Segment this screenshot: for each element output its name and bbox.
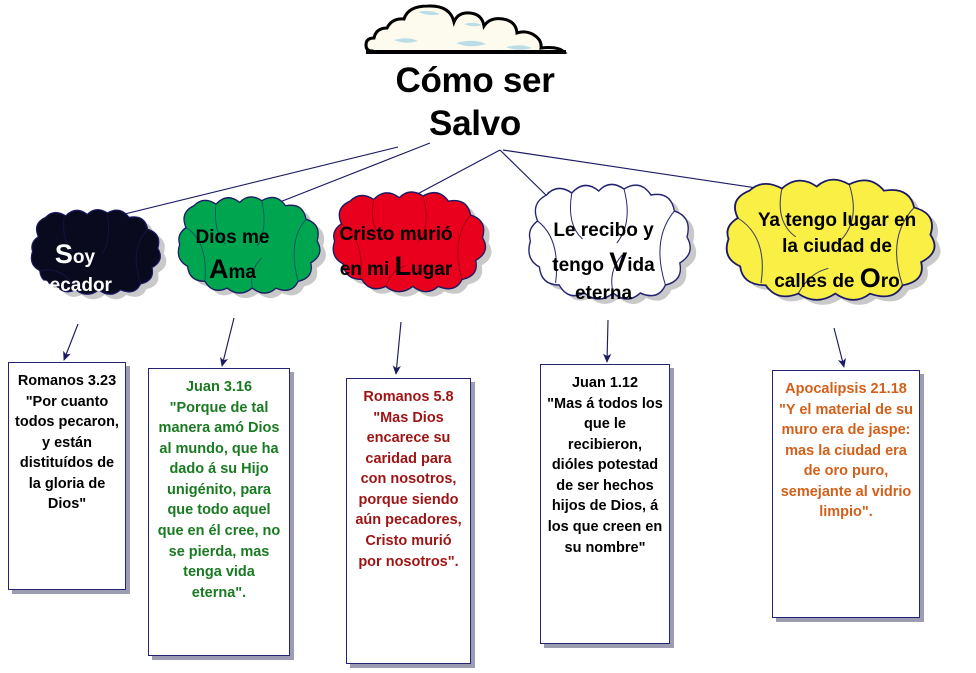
verse-reference: Romanos 3.23 xyxy=(14,371,120,392)
verse-reference: Juan 1.12 xyxy=(546,373,664,394)
verse-box-juan-316[interactable]: Juan 3.16"Porque de tal manera amó Dios … xyxy=(148,368,290,656)
verse-box-juan-112[interactable]: Juan 1.12"Mas á todos los que le recibie… xyxy=(540,364,670,644)
verse-reference: Juan 3.16 xyxy=(154,377,284,398)
verse-reference: Romanos 5.8 xyxy=(352,387,465,408)
verse-box-romanos-58[interactable]: Romanos 5.8"Mas Dios encarece su caridad… xyxy=(346,378,471,664)
verse-boxes: Romanos 3.23"Por cuanto todos pecaron, y… xyxy=(0,0,976,673)
salvation-diagram: Cómo ser Salvo xyxy=(0,0,976,673)
verse-text: "Y el material de su muro era de jaspe: … xyxy=(778,400,914,523)
verse-reference: Apocalipsis 21.18 xyxy=(778,379,914,400)
verse-text: "Porque de tal manera amó Dios al mundo,… xyxy=(154,398,284,604)
verse-box-romanos-323[interactable]: Romanos 3.23"Por cuanto todos pecaron, y… xyxy=(8,362,126,590)
verse-text: "Por cuanto todos pecaron, y están disti… xyxy=(14,392,120,515)
verse-text: "Mas á todos los que le recibieron, diól… xyxy=(546,394,664,559)
verse-text: "Mas Dios encarece su caridad para con n… xyxy=(352,408,465,573)
verse-box-apocalipsis-2118[interactable]: Apocalipsis 21.18"Y el material de su mu… xyxy=(772,370,920,618)
